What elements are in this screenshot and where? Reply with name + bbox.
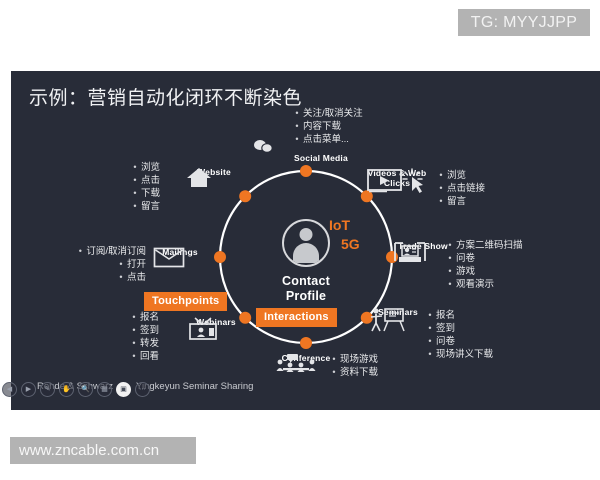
bullet-text: 签到 xyxy=(139,324,160,337)
bullet-text: 留言 xyxy=(446,195,467,208)
webinar-screen-icon xyxy=(186,317,220,341)
bullet-text: 留言 xyxy=(140,200,161,213)
bullet-dot: • xyxy=(292,120,302,133)
node-dot-mailings xyxy=(214,251,226,263)
bullets-webinars: •报名 •签到 •转发 •回看 xyxy=(100,311,160,363)
bullet-text: 方案二维码扫描 xyxy=(455,239,524,252)
home-house-icon xyxy=(186,167,212,189)
player-controls-bar[interactable]: ◀ ▶ ✎ ✋ 🔍 ▦ ▣ ⋯ xyxy=(2,382,150,397)
bullets-mailings: •订阅/取消订阅 •打开 •点击 xyxy=(37,245,147,284)
bullet-dot: • xyxy=(129,337,139,350)
bullet-text: 回看 xyxy=(139,350,160,363)
node-dot-conference xyxy=(300,337,312,349)
envelope-icon xyxy=(153,247,185,268)
center-title-line1: Contact xyxy=(258,274,354,289)
bullet-dot: • xyxy=(130,200,140,213)
presentation-slide: 示例：营销自动化闭环不断染色 Cont xyxy=(11,71,600,410)
bullet-dot: • xyxy=(329,366,339,379)
bullet-text: 问卷 xyxy=(455,252,476,265)
player-hand-button[interactable]: ✋ xyxy=(59,382,74,397)
bullet-text: 内容下载 xyxy=(302,120,342,133)
bullets-social-media: •关注/取消关注 •内容下载 •点击菜单... xyxy=(292,107,364,146)
bullet-text: 浏览 xyxy=(140,161,161,174)
bullet-text: 下载 xyxy=(140,187,161,200)
wechat-bubbles-icon xyxy=(253,139,273,153)
node-website[interactable]: Website xyxy=(186,167,242,177)
bullets-website: •浏览 •点击 •下载 •留言 xyxy=(103,161,161,213)
bullets-seminars: •报名 •签到 •问卷 •现场讲义下载 xyxy=(425,309,494,361)
player-camera-button[interactable]: ▣ xyxy=(116,382,131,397)
bullet-dot: • xyxy=(116,271,126,284)
bullet-text: 签到 xyxy=(435,322,456,335)
node-label-social-media: Social Media xyxy=(294,153,348,163)
bullet-text: 报名 xyxy=(435,309,456,322)
bullet-dot: • xyxy=(445,265,455,278)
bullet-text: 现场讲义下载 xyxy=(435,348,494,361)
site-watermark-badge: www.zncable.com.cn xyxy=(10,437,196,464)
bullet-text: 点击菜单... xyxy=(302,133,350,146)
bullet-dot: • xyxy=(75,245,85,258)
bullet-text: 点击 xyxy=(140,174,161,187)
bullet-dot: • xyxy=(116,258,126,271)
player-more-button[interactable]: ⋯ xyxy=(135,382,150,397)
bullet-dot: • xyxy=(129,350,139,363)
bullet-dot: • xyxy=(329,353,339,366)
bullet-text: 订阅/取消订阅 xyxy=(85,245,147,258)
tg-watermark-badge: TG: MYYJJPP xyxy=(458,9,590,36)
bullet-dot: • xyxy=(129,311,139,324)
interactions-tag: Interactions xyxy=(256,308,337,327)
bullet-dot: • xyxy=(425,348,435,361)
node-dot-website xyxy=(239,190,251,202)
node-mailings[interactable]: Mailings xyxy=(153,247,207,257)
bullet-dot: • xyxy=(130,174,140,187)
trade-show-booth-icon xyxy=(393,241,427,265)
bullet-dot: • xyxy=(436,182,446,195)
bullet-dot: • xyxy=(425,309,435,322)
bullet-dot: • xyxy=(292,133,302,146)
bullet-text: 游戏 xyxy=(455,265,476,278)
bullets-trade-show: •方案二维码扫描 •问卷 •游戏 •观看演示 xyxy=(445,239,524,291)
bullet-text: 资料下载 xyxy=(339,366,379,379)
player-play-button[interactable]: ▶ xyxy=(21,382,36,397)
bullet-text: 点击 xyxy=(126,271,147,284)
bullet-dot: • xyxy=(445,239,455,252)
bullets-conference: •现场游戏 •资料下载 xyxy=(329,353,379,379)
player-zoom-button[interactable]: 🔍 xyxy=(78,382,93,397)
bullet-dot: • xyxy=(130,161,140,174)
slide-footer-subtitle: Yingkeyun Seminar Sharing xyxy=(136,381,253,392)
player-grid-button[interactable]: ▦ xyxy=(97,382,112,397)
node-seminars[interactable]: Seminars xyxy=(369,307,427,317)
meeting-table-icon xyxy=(273,353,319,375)
bullet-text: 报名 xyxy=(139,311,160,324)
bullet-dot: • xyxy=(425,335,435,348)
bullet-dot: • xyxy=(445,252,455,265)
center-title-line2: Profile xyxy=(258,289,354,304)
bullet-text: 现场游戏 xyxy=(339,353,379,366)
node-videos-web-clicks[interactable]: Videos & Web Clicks xyxy=(367,168,437,188)
touchpoints-tag: Touchpoints xyxy=(144,292,227,311)
bullet-text: 打开 xyxy=(126,258,147,271)
bullet-dot: • xyxy=(436,169,446,182)
bullet-text: 问卷 xyxy=(435,335,456,348)
presenter-board-icon xyxy=(369,307,405,333)
person-avatar-icon xyxy=(282,219,330,267)
bullet-text: 关注/取消关注 xyxy=(302,107,364,120)
node-dot-social-media xyxy=(300,165,312,177)
bullet-dot: • xyxy=(445,278,455,291)
bullet-dot: • xyxy=(425,322,435,335)
5g-label: 5G xyxy=(341,236,360,252)
screenshot-root: TG: MYYJJPP 示例：营销自动化闭环不断染色 xyxy=(0,0,600,480)
bullet-text: 观看演示 xyxy=(455,278,495,291)
bullets-videos-web-clicks: •浏览 •点击链接 •留言 xyxy=(436,169,486,208)
bullet-dot: • xyxy=(436,195,446,208)
bullet-text: 点击链接 xyxy=(446,182,486,195)
node-webinars[interactable]: Webinars xyxy=(186,317,246,327)
bullet-dot: • xyxy=(130,187,140,200)
player-pen-button[interactable]: ✎ xyxy=(40,382,55,397)
bullet-dot: • xyxy=(292,107,302,120)
node-trade-show[interactable]: Trade Show xyxy=(393,241,453,251)
bullet-dot: • xyxy=(129,324,139,337)
video-player-cursor-icon xyxy=(367,168,429,194)
bullet-text: 转发 xyxy=(139,337,160,350)
closed-loop-diagram: Contact Profile IoT 5G Touchpoints Inter… xyxy=(11,71,600,410)
iot-label: IoT xyxy=(329,217,350,233)
player-prev-button[interactable]: ◀ xyxy=(2,382,17,397)
bullet-text: 浏览 xyxy=(446,169,467,182)
